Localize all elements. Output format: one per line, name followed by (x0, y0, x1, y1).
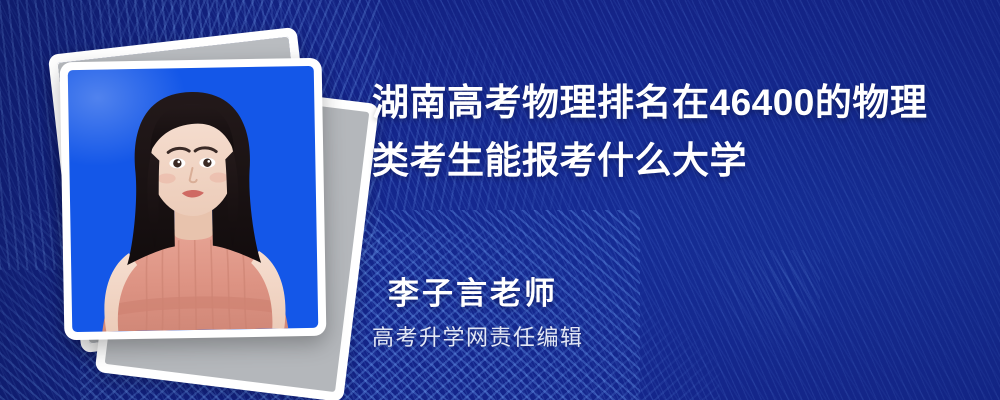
portrait-illustration (68, 66, 319, 332)
photo-card-front (60, 58, 327, 341)
author-photo-stack (46, 24, 366, 374)
author-portrait-photo (68, 66, 319, 332)
article-title: 湖南高考物理排名在46400的物理 类考生能报考什么大学 (372, 74, 952, 190)
article-title-line-1: 湖南高考物理排名在46400的物理 (372, 74, 952, 132)
article-title-line-2: 类考生能报考什么大学 (372, 132, 952, 190)
author-name: 李子言老师 (388, 268, 558, 313)
article-banner: 湖南高考物理排名在46400的物理 类考生能报考什么大学 李子言老师 高考升学网… (0, 0, 1000, 400)
author-role: 高考升学网责任编辑 (372, 320, 584, 352)
